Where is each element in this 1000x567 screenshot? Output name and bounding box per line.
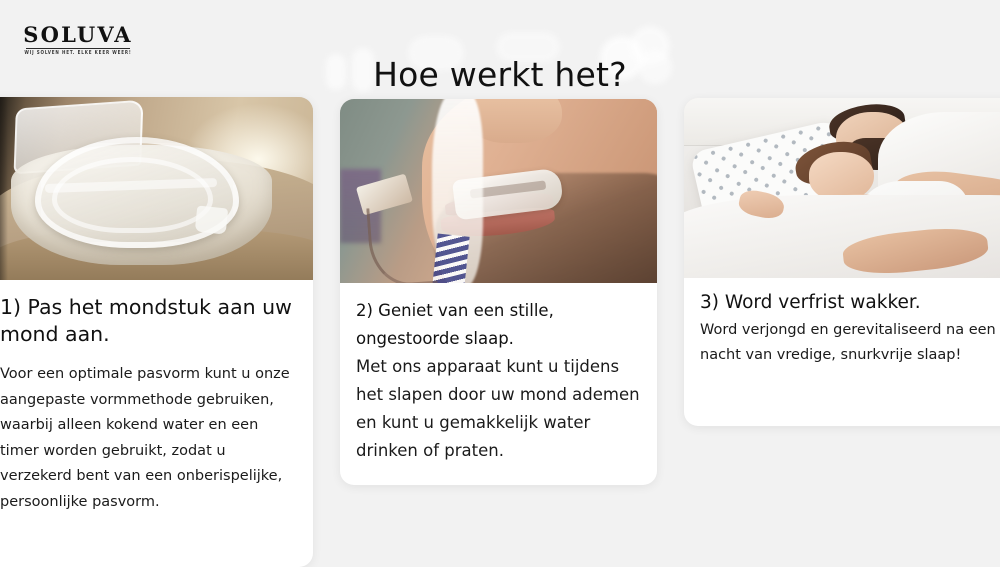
mouthguard-tab-shape bbox=[195, 205, 228, 234]
step-3-photo bbox=[684, 98, 1000, 278]
step-3-title: 3) Word verfrist wakker. bbox=[700, 290, 1000, 316]
step-2-text: Met ons apparaat kunt u tijdens het slap… bbox=[356, 353, 641, 465]
step-2-body: 2) Geniet van een stille, ongestoorde sl… bbox=[340, 283, 657, 465]
brand-tagline: WIJ SOLVEN HET. ELKE KEER WEER! bbox=[18, 50, 138, 55]
headline-container: Hoe werkt het? bbox=[300, 22, 700, 84]
mouthguard-inner-shape bbox=[52, 157, 213, 233]
photo-shadow-edge bbox=[0, 97, 8, 280]
step-2-title: 2) Geniet van een stille, ongestoorde sl… bbox=[356, 297, 641, 353]
strap-shape bbox=[432, 234, 469, 283]
page-header: SOLUVA WIJ SOLVEN HET. ELKE KEER WEER! H… bbox=[0, 0, 1000, 88]
step-1-body: 1) Pas het mondstuk aan uw mond aan. Voo… bbox=[0, 280, 313, 515]
page-title: Hoe werkt het? bbox=[300, 44, 700, 106]
step-card-3: 3) Word verfrist wakker. Word verjongd e… bbox=[684, 98, 1000, 426]
step-1-title: 1) Pas het mondstuk aan uw mond aan. bbox=[0, 294, 295, 348]
brand-wordmark: SOLUVA bbox=[18, 24, 138, 45]
step-card-2: 2) Geniet van een stille, ongestoorde sl… bbox=[340, 99, 657, 485]
woman-head-shape bbox=[809, 152, 875, 201]
step-1-text: Voor een optimale pasvorm kunt u onze aa… bbox=[0, 362, 295, 515]
step-card-1: 1) Pas het mondstuk aan uw mond aan. Voo… bbox=[0, 97, 313, 567]
step-1-photo bbox=[0, 97, 313, 280]
step-3-text: Word verjongd en gerevitaliseerd na een … bbox=[700, 318, 1000, 368]
step-2-photo bbox=[340, 99, 657, 283]
step-3-body: 3) Word verfrist wakker. Word verjongd e… bbox=[684, 278, 1000, 368]
brand-logo[interactable]: SOLUVA WIJ SOLVEN HET. ELKE KEER WEER! bbox=[18, 24, 138, 55]
